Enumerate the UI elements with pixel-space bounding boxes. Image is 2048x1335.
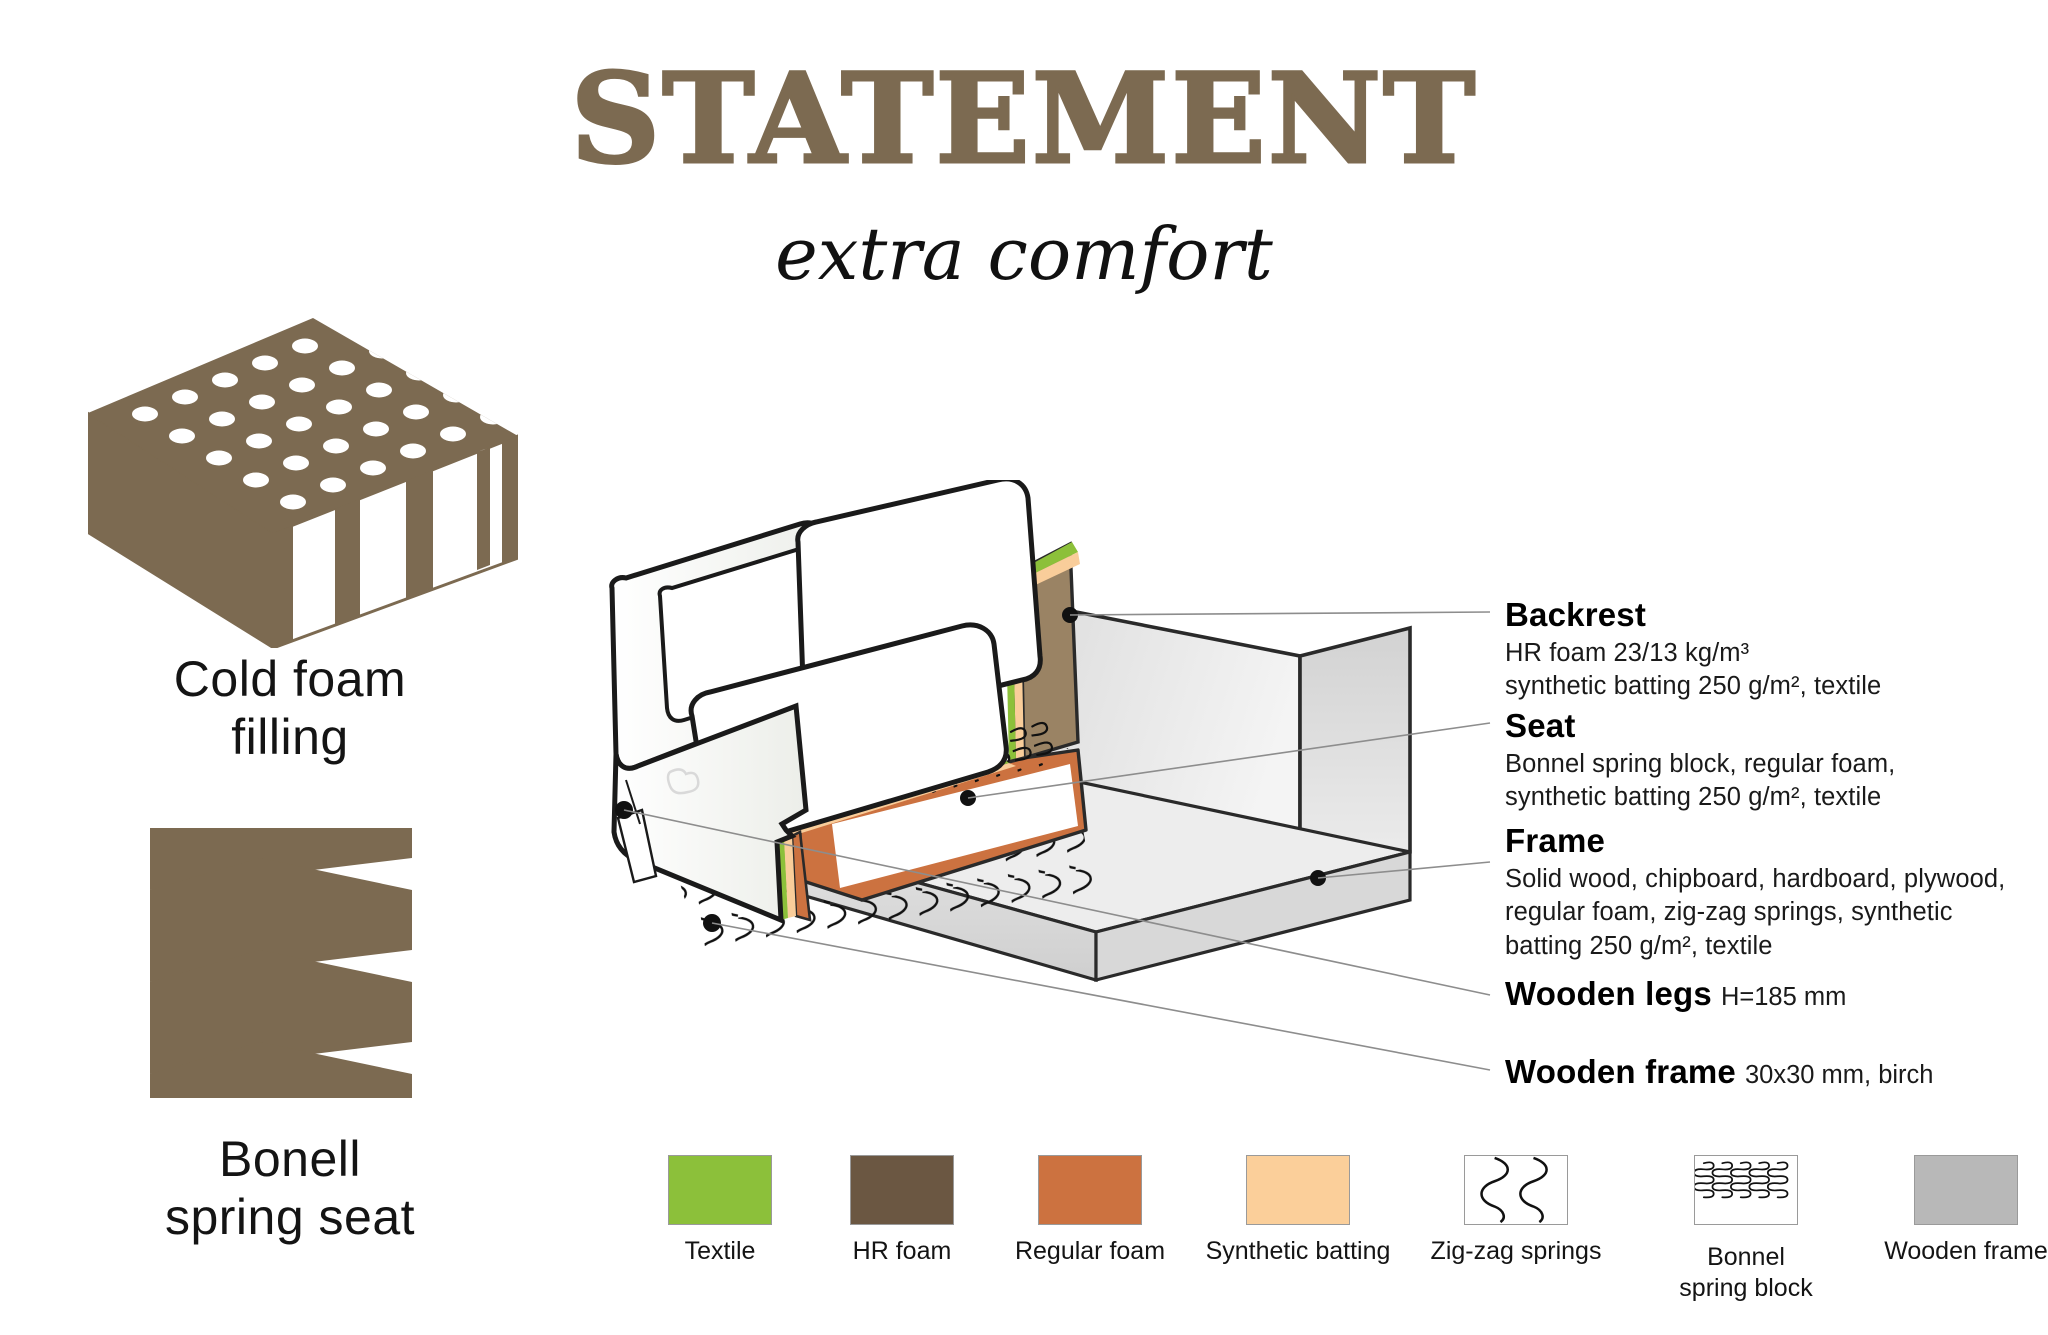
callout-seat-body: Bonnel spring block, regular foam, synth… xyxy=(1505,748,1895,814)
bonell-caption-line2: spring seat xyxy=(10,1188,570,1246)
legend-label-synthetic-batting: Synthetic batting xyxy=(1178,1236,1418,1267)
callout-frame-body: Solid wood, chipboard, hardboard, plywoo… xyxy=(1505,863,2005,962)
leader-dot-legs xyxy=(615,801,633,819)
legend-swatch-wooden-frame xyxy=(1914,1155,2018,1225)
callout-wooden-frame-sub: 30x30 mm, birch xyxy=(1745,1061,1934,1089)
bonell-caption-line1: Bonell xyxy=(10,1130,570,1188)
legend-swatch-zig-zag-springs xyxy=(1464,1155,1568,1225)
cold-foam-caption: Cold foam filling xyxy=(10,650,570,766)
leader-dot-backrest xyxy=(1062,607,1078,623)
legend-item-textile: Textile xyxy=(620,1155,820,1267)
legend-label-bonnel-spring-block: Bonnel spring block xyxy=(1640,1242,1852,1303)
page-subtitle: extra comfort xyxy=(0,218,2048,290)
cold-foam-caption-line1: Cold foam xyxy=(10,650,570,708)
legend-item-bonnel-spring-block: Bonnel spring block xyxy=(1640,1155,1852,1303)
legend-item-wooden-frame: Wooden frame xyxy=(1860,1155,2048,1267)
callout-frame: Frame Solid wood, chipboard, hardboard, … xyxy=(1505,822,2005,963)
legend-swatch-textile xyxy=(668,1155,772,1225)
legend-label-textile: Textile xyxy=(620,1236,820,1267)
legend-label-zig-zag-springs: Zig-zag springs xyxy=(1400,1236,1632,1267)
legend-swatch-synthetic-batting xyxy=(1246,1155,1350,1225)
page-title: STATEMENT xyxy=(0,58,2048,182)
leader-dot-seat xyxy=(960,790,976,806)
legend-label-hr-foam: HR foam xyxy=(802,1236,1002,1267)
cold-foam-block-icon xyxy=(88,318,518,648)
callout-backrest-title: Backrest xyxy=(1505,596,1881,634)
legend-item-regular-foam: Regular foam xyxy=(984,1155,1196,1267)
legend-swatch-regular-foam xyxy=(1038,1155,1142,1225)
callout-wooden-legs-sub: H=185 mm xyxy=(1721,983,1846,1011)
callout-frame-title: Frame xyxy=(1505,822,2005,860)
infographic-canvas: STATEMENT extra comfort xyxy=(0,0,2048,1335)
legend-label-regular-foam: Regular foam xyxy=(984,1236,1196,1267)
callout-seat-title: Seat xyxy=(1505,707,1895,745)
callout-wooden-frame-title: Wooden frame xyxy=(1505,1053,1736,1090)
legend-label-wooden-frame: Wooden frame xyxy=(1860,1236,2048,1267)
callout-seat: Seat Bonnel spring block, regular foam, … xyxy=(1505,707,1895,815)
callout-wooden-frame: Wooden frame30x30 mm, birch xyxy=(1505,1053,1933,1091)
leader-dot-frame xyxy=(1310,870,1326,886)
legend-item-zig-zag-springs: Zig-zag springs xyxy=(1400,1155,1632,1267)
legend-item-hr-foam: HR foam xyxy=(802,1155,1002,1267)
legend-item-synthetic-batting: Synthetic batting xyxy=(1178,1155,1418,1267)
sofa-cutaway-illustration xyxy=(600,480,1420,1080)
callout-wooden-legs-title: Wooden legs xyxy=(1505,975,1712,1012)
bonell-spring-caption: Bonell spring seat xyxy=(10,1130,570,1246)
zig-zag-spring-icon xyxy=(140,820,440,1105)
callout-backrest: Backrest HR foam 23/13 kg/m³ synthetic b… xyxy=(1505,596,1881,704)
cold-foam-caption-line2: filling xyxy=(10,708,570,766)
materials-legend: Textile HR foam Regular foam Synthetic b… xyxy=(620,1155,2020,1315)
legend-swatch-hr-foam xyxy=(850,1155,954,1225)
leader-dot-wooden-frame xyxy=(703,914,721,932)
callout-wooden-legs: Wooden legsH=185 mm xyxy=(1505,975,1846,1013)
legend-swatch-bonnel-spring-block xyxy=(1694,1155,1798,1225)
callout-backrest-body: HR foam 23/13 kg/m³ synthetic batting 25… xyxy=(1505,637,1881,703)
